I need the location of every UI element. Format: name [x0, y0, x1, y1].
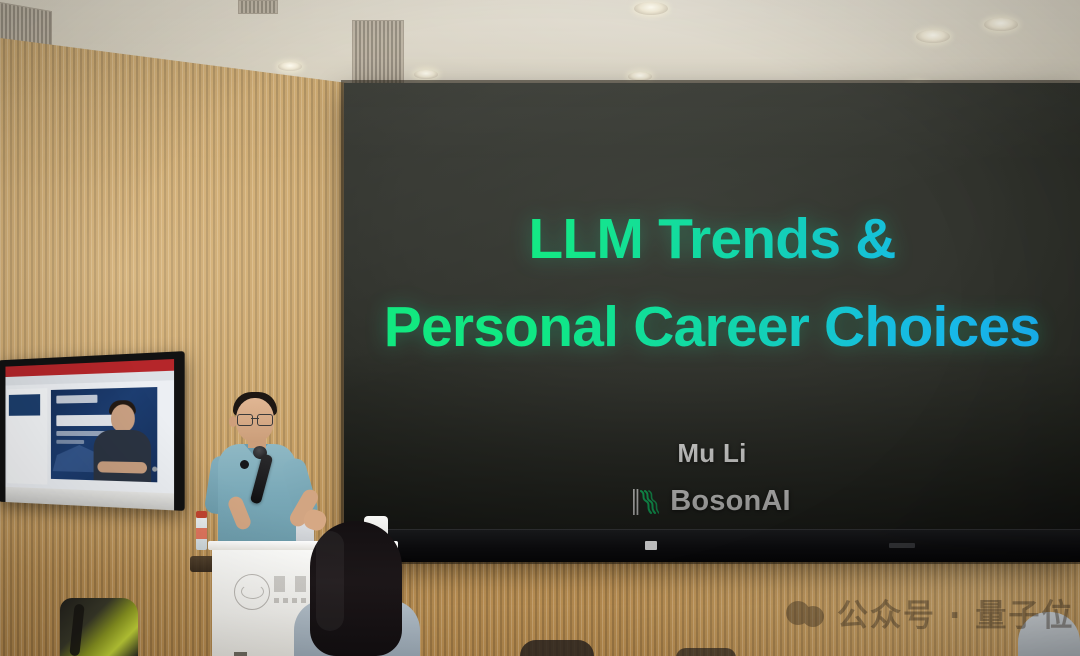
slide-title-line-1: LLM Trends & [528, 207, 895, 271]
watermark-text: 公众号 · 量子位 [837, 590, 1074, 635]
poster-byline [56, 440, 84, 444]
power-led-icon [152, 466, 157, 471]
brand-lockup: BosonAI [344, 485, 1080, 518]
audience-head-icon [676, 648, 736, 656]
ceiling-light-icon [916, 30, 950, 43]
slide-title-line-2: Personal Career Choices [344, 283, 1080, 371]
ceiling-light-icon [414, 70, 438, 79]
ceiling-light-icon [984, 18, 1018, 31]
audience-head-icon [310, 521, 402, 656]
event-poster [51, 387, 157, 482]
poster-portrait-arms [97, 461, 147, 473]
sidebar-thumbnail [9, 394, 40, 416]
display-brand-logo-icon [645, 541, 657, 550]
presentation-display: LLM Trends & Personal Career Choices Mu … [344, 83, 1080, 561]
boson-wave-logo-icon [633, 487, 659, 517]
poster-portrait-head [111, 404, 135, 432]
audience-head-icon [520, 640, 594, 656]
ceiling-light-icon [278, 62, 302, 71]
side-monitor [0, 351, 185, 511]
lecture-hall-photo: LLM Trends & Personal Career Choices Mu … [0, 0, 1080, 656]
air-vent-icon [238, 0, 278, 14]
ceiling-light-icon [628, 72, 652, 81]
watermark: 公众号 · 量子位 [786, 590, 1074, 635]
side-monitor-screen [5, 359, 174, 493]
presenter-name: Mu Li [344, 438, 1080, 469]
display-model-mark-icon [889, 543, 915, 548]
podium-leg [234, 652, 247, 656]
brand-name: BosonAI [670, 485, 791, 518]
slide-title: LLM Trends & Personal Career Choices [344, 195, 1080, 372]
eyeglasses-icon [237, 414, 273, 424]
presentation-slide: LLM Trends & Personal Career Choices Mu … [344, 83, 1080, 529]
qbitai-logo-icon [786, 599, 828, 627]
university-emblem-icon [234, 574, 270, 610]
poster-university-logo-icon [56, 395, 97, 404]
speaker-ear [229, 416, 237, 427]
display-bezel [344, 529, 1080, 562]
ceiling-light-icon [634, 2, 668, 15]
lavalier-mic-icon [240, 460, 249, 469]
poster-portrait-body [94, 430, 151, 482]
